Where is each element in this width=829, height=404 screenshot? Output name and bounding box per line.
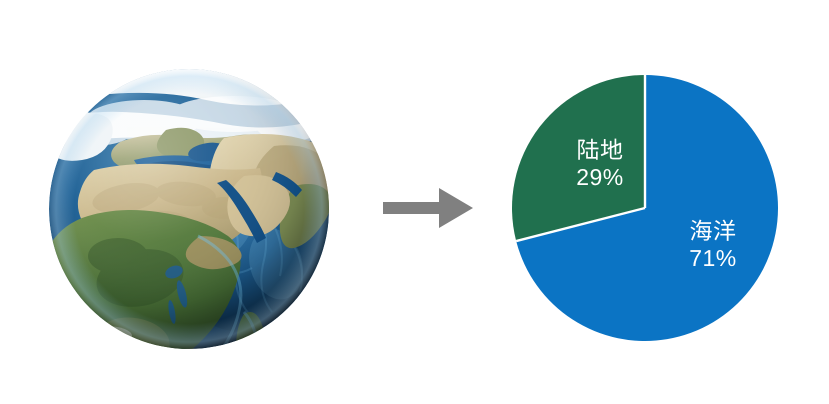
pie-chart-svg bbox=[512, 75, 778, 341]
pie-chart bbox=[512, 75, 778, 341]
scene-canvas: 陆地 29% 海洋 71% bbox=[0, 0, 829, 404]
globe-atmosphere bbox=[49, 69, 329, 349]
arrow-shape bbox=[383, 188, 473, 228]
earth-globe bbox=[48, 68, 330, 350]
earth-globe-icon bbox=[48, 68, 330, 350]
right-arrow-icon bbox=[381, 186, 475, 230]
transition-arrow bbox=[381, 186, 475, 230]
